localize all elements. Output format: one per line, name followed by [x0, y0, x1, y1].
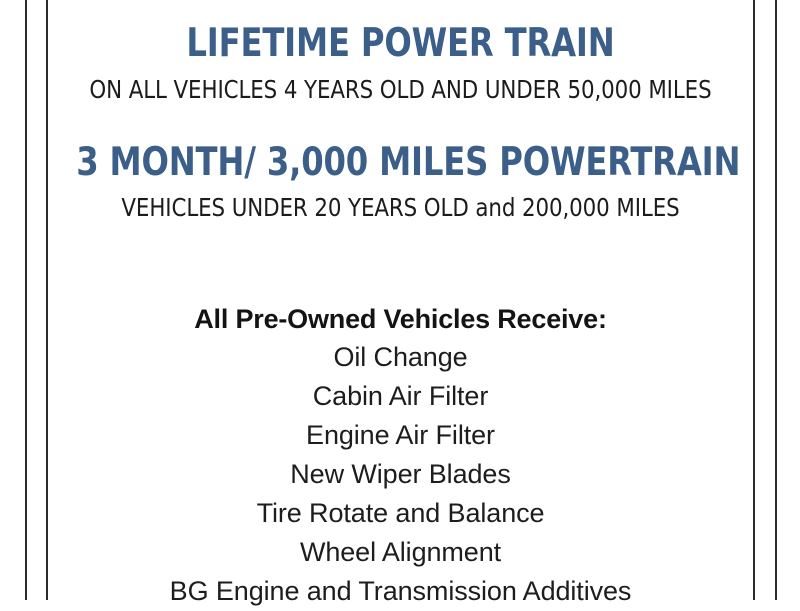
warranty-headline-three-month: 3 MONTH/ 3,000 MILES POWERTRAIN — [76, 143, 725, 182]
warranty-subtitle-three-month: VEHICLES UNDER 20 YEARS OLD and 200,000 … — [66, 195, 736, 221]
service-list-item: Cabin Air Filter — [48, 377, 753, 416]
frame-rule-left-outer — [25, 0, 27, 600]
warranty-block-lifetime: LIFETIME POWER TRAIN ON ALL VEHICLES 4 Y… — [48, 24, 753, 103]
flyer-content: LIFETIME POWER TRAIN ON ALL VEHICLES 4 Y… — [48, 0, 753, 600]
service-list-item: Engine Air Filter — [48, 416, 753, 455]
warranty-block-three-month: 3 MONTH/ 3,000 MILES POWERTRAIN VEHICLES… — [48, 143, 753, 221]
warranty-headline-lifetime: LIFETIME POWER TRAIN — [76, 24, 725, 63]
service-list-item: Tire Rotate and Balance — [48, 494, 753, 533]
services-list: Oil ChangeCabin Air FilterEngine Air Fil… — [48, 338, 753, 611]
frame-rule-right-outer — [775, 0, 777, 600]
service-list-item: New Wiper Blades — [48, 455, 753, 494]
service-list-item: BG Engine and Transmission Additives — [48, 572, 753, 611]
warranty-subtitle-lifetime: ON ALL VEHICLES 4 YEARS OLD AND UNDER 50… — [66, 77, 736, 103]
service-list-item: Oil Change — [48, 338, 753, 377]
frame-rule-right-inner — [753, 0, 755, 600]
services-section: All Pre-Owned Vehicles Receive: Oil Chan… — [48, 300, 753, 611]
service-list-item: Wheel Alignment — [48, 533, 753, 572]
services-heading: All Pre-Owned Vehicles Receive: — [48, 300, 753, 338]
